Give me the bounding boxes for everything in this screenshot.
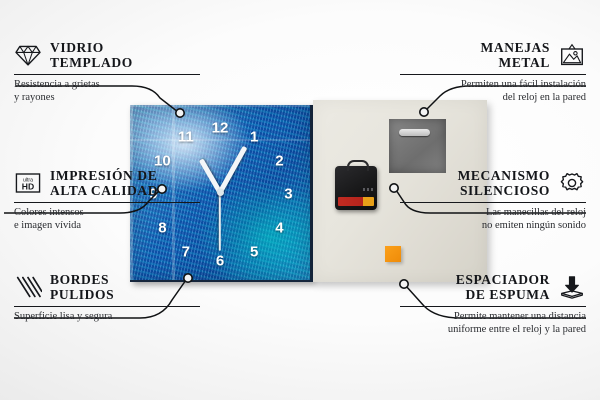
callout-divider [14, 306, 200, 307]
callout-desc-line1: Permite mantener una distancia [454, 311, 586, 322]
callout-title-line2: TEMPLADO [50, 55, 133, 70]
callout-desc-line1: Permiten una fácil instalación [461, 79, 586, 90]
svg-text:HD: HD [22, 181, 34, 191]
callout-divider [400, 202, 586, 203]
clock-numeral-6: 6 [216, 253, 224, 268]
callout-desc-line2: no emiten ningún sonido [482, 220, 586, 231]
diamond-icon [14, 43, 42, 67]
callout-title-line1: MECANISMO [458, 168, 550, 183]
callout-desc-line2: y rayones [14, 92, 55, 103]
clock-second-hand [219, 193, 221, 251]
callout-description: Las manecillas del reloj no emiten ningú… [400, 207, 586, 232]
callout-divider [400, 306, 586, 307]
callout-description: Colores intensos e imagen vívida [14, 207, 200, 232]
callout-title: MECANISMO SILENCIOSO [458, 168, 550, 198]
callout-desc-line1: Colores intensos [14, 207, 84, 218]
callout-description: Resistencia a grietas y rayones [14, 79, 200, 104]
callout-title-line2: SILENCIOSO [460, 183, 550, 198]
hanger-slot [399, 129, 430, 136]
callout-title-line1: BORDES [50, 272, 109, 287]
callout-desc-line1: Superficie lisa y segura [14, 311, 112, 322]
callout-title: MANEJAS METAL [481, 40, 550, 70]
infographic-canvas: 12 1 2 3 4 5 6 7 8 9 10 11 [0, 0, 600, 400]
callout-title-line1: ESPACIADOR [456, 272, 550, 287]
callout-desc-line2: uniforme entre el reloj y la pared [448, 324, 586, 335]
movement-red-label [338, 197, 374, 206]
callout-title: IMPRESIÓN DE ALTA CALIDAD [50, 168, 158, 198]
callout-divider [400, 74, 586, 75]
callout-desc-line1: Resistencia a grietas [14, 79, 100, 90]
callout-espaciador-de-espuma[interactable]: ESPACIADOR DE ESPUMA Permite mantener un… [400, 272, 586, 336]
callout-divider [14, 202, 200, 203]
clock-numeral-10: 10 [154, 154, 171, 169]
clock-numeral-11: 11 [178, 129, 194, 144]
metal-hanger-plate [389, 119, 446, 173]
callout-title: ESPACIADOR DE ESPUMA [456, 272, 550, 302]
callout-header: ESPACIADOR DE ESPUMA [400, 272, 586, 302]
clock-numeral-2: 2 [275, 154, 283, 169]
callout-desc-line2: e imagen vívida [14, 220, 81, 231]
gear-icon [558, 171, 586, 195]
callout-title-line1: IMPRESIÓN DE [50, 168, 157, 183]
foam-spacer-pad [385, 246, 401, 262]
callout-description: Superficie lisa y segura [14, 311, 200, 324]
callout-description: Permite mantener una distancia uniforme … [400, 311, 586, 336]
quartz-movement-box [335, 166, 377, 210]
clock-center-cap [217, 189, 224, 196]
callout-title: BORDES PULIDOS [50, 272, 114, 302]
movement-hanging-loop [347, 160, 369, 171]
diagonal-stripes-icon [14, 275, 42, 299]
framed-picture-hanging-icon [558, 43, 586, 67]
callout-impresion-alta-calidad[interactable]: ultra HD IMPRESIÓN DE ALTA CALIDAD Color… [14, 168, 200, 232]
callout-header: ultra HD IMPRESIÓN DE ALTA CALIDAD [14, 168, 200, 198]
callout-desc-line1: Las manecillas del reloj [486, 207, 586, 218]
callout-divider [14, 74, 200, 75]
callout-title-line2: ALTA CALIDAD [50, 183, 158, 198]
callout-title-line2: DE ESPUMA [465, 287, 550, 302]
clock-numeral-3: 3 [284, 187, 292, 202]
callout-header: MANEJAS METAL [400, 40, 586, 70]
callout-header: BORDES PULIDOS [14, 272, 200, 302]
callout-title-line2: METAL [498, 55, 550, 70]
callout-title: VIDRIO TEMPLADO [50, 40, 133, 70]
callout-mecanismo-silencioso[interactable]: MECANISMO SILENCIOSO Las manecillas del … [400, 168, 586, 232]
clock-numeral-1: 1 [250, 129, 258, 144]
movement-detail [363, 188, 373, 191]
callout-header: MECANISMO SILENCIOSO [400, 168, 586, 198]
clock-numeral-7: 7 [182, 245, 190, 260]
callout-desc-line2: del reloj en la pared [503, 92, 586, 103]
callout-vidrio-templado[interactable]: VIDRIO TEMPLADO Resistencia a grietas y … [14, 40, 200, 104]
callout-manejas-metal[interactable]: MANEJAS METAL Permiten una fácil instala… [400, 40, 586, 104]
clock-numeral-5: 5 [250, 245, 258, 260]
down-arrow-on-pad-icon [558, 275, 586, 299]
clock-numeral-12: 12 [212, 120, 229, 135]
callout-bordes-pulidos[interactable]: BORDES PULIDOS Superficie lisa y segura [14, 272, 200, 324]
callout-title-line2: PULIDOS [50, 287, 114, 302]
callout-title-line1: VIDRIO [50, 40, 104, 55]
clock-numeral-4: 4 [275, 220, 283, 235]
callout-header: VIDRIO TEMPLADO [14, 40, 200, 70]
clock-minute-hand [218, 146, 248, 194]
callout-description: Permiten una fácil instalación del reloj… [400, 79, 586, 104]
callout-title-line1: MANEJAS [481, 40, 550, 55]
ultra-hd-icon: ultra HD [14, 171, 42, 195]
